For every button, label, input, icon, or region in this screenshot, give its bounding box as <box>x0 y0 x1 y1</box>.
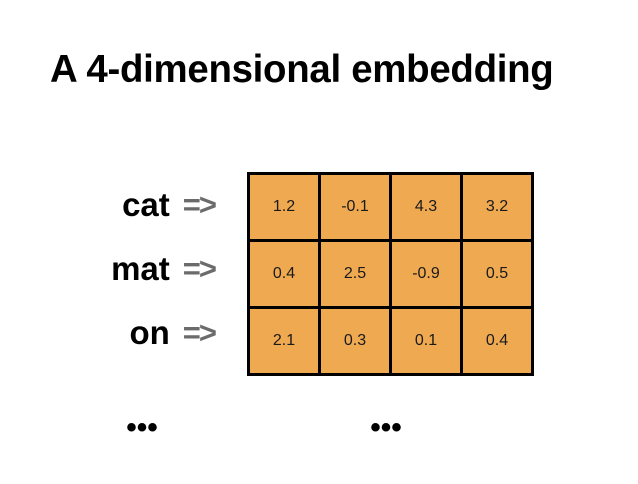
word-row-cat: cat => <box>20 172 225 236</box>
embedding-matrix: 1.2 -0.1 4.3 3.2 0.4 2.5 -0.9 0.5 2.1 0.… <box>247 172 534 376</box>
matrix-cell: 1.2 <box>249 174 320 241</box>
arrow-icon-on: => <box>183 317 215 348</box>
matrix-cell: 0.5 <box>462 241 533 308</box>
word-row-on: on => <box>20 301 225 365</box>
matrix-cell: 0.4 <box>462 308 533 375</box>
matrix-cell: -0.1 <box>320 174 391 241</box>
word-label-on: on <box>129 316 169 349</box>
matrix-cell: 2.5 <box>320 241 391 308</box>
arrow-icon-cat: => <box>183 189 215 220</box>
slide-canvas: A 4-dimensional embedding cat => mat => … <box>0 0 638 484</box>
arrow-icon-mat: => <box>183 253 215 284</box>
ellipsis-matrix: ••• <box>366 418 406 438</box>
word-label-mat: mat <box>111 252 170 285</box>
matrix-cell: 0.3 <box>320 308 391 375</box>
matrix-cell: 2.1 <box>249 308 320 375</box>
matrix-cell: -0.9 <box>391 241 462 308</box>
table-row: 1.2 -0.1 4.3 3.2 <box>249 174 533 241</box>
table-row: 2.1 0.3 0.1 0.4 <box>249 308 533 375</box>
word-label-cat: cat <box>122 188 170 221</box>
matrix-cell: 3.2 <box>462 174 533 241</box>
word-row-mat: mat => <box>20 236 225 300</box>
matrix-cell: 0.1 <box>391 308 462 375</box>
page-title: A 4-dimensional embedding <box>50 44 594 96</box>
ellipsis-words: ••• <box>122 418 162 438</box>
table-row: 0.4 2.5 -0.9 0.5 <box>249 241 533 308</box>
word-label-column: cat => mat => on => <box>20 172 225 365</box>
matrix-cell: 0.4 <box>249 241 320 308</box>
matrix-cell: 4.3 <box>391 174 462 241</box>
